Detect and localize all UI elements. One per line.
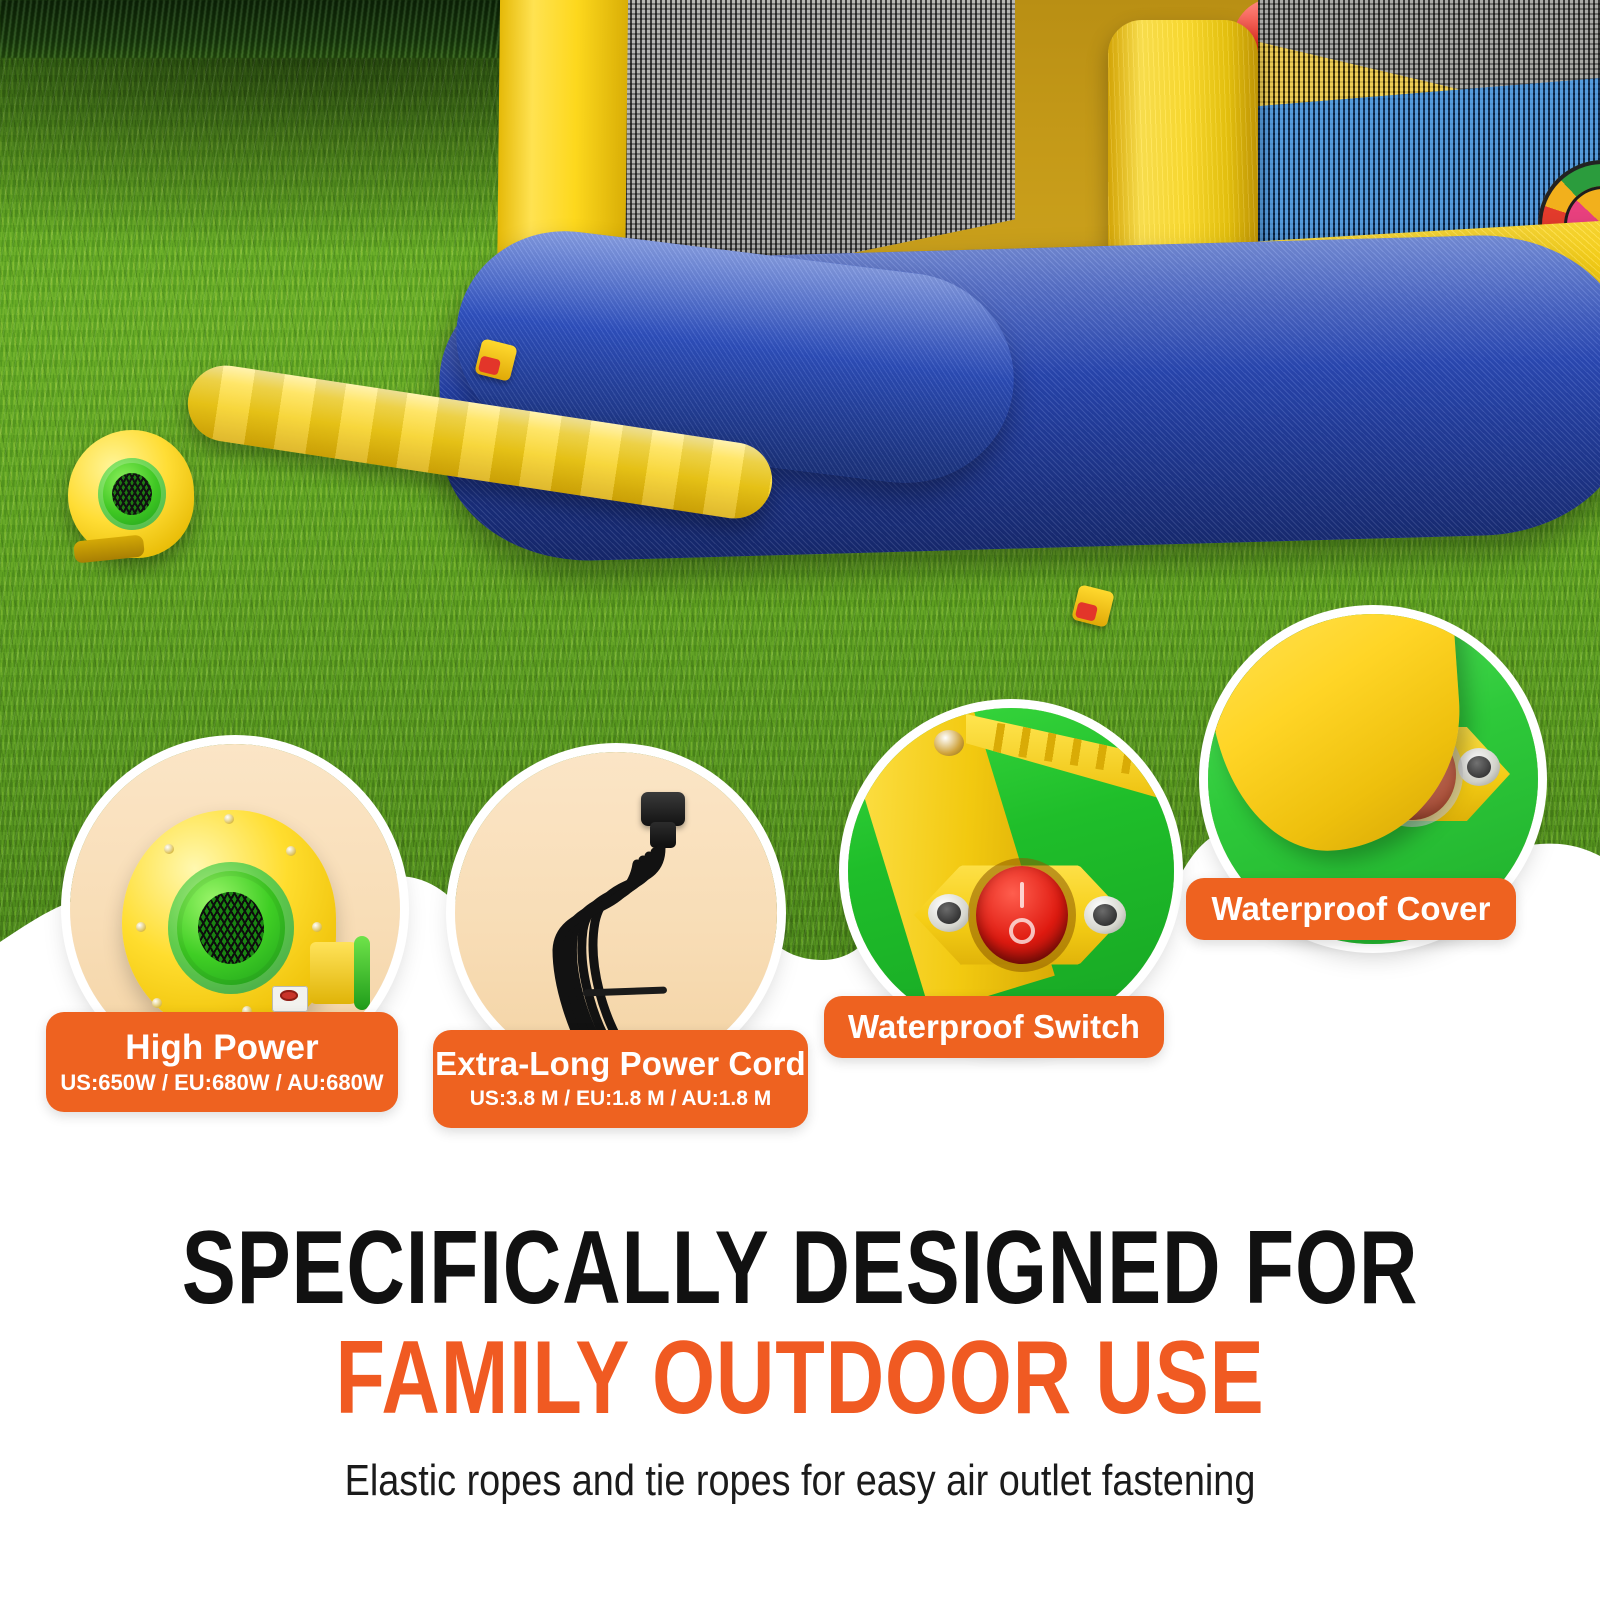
badge-title: High Power: [125, 1029, 319, 1066]
feature-circle-waterproof-switch: [848, 708, 1174, 1034]
screw-icon: [1084, 896, 1126, 934]
badge-waterproof-cover: Waterproof Cover: [1186, 878, 1516, 940]
headline-line-1: SPECIFICALLY DESIGNED FOR: [176, 1216, 1424, 1320]
switch-on-marking-icon: [1020, 882, 1024, 908]
power-cord-illustration: [455, 752, 777, 1074]
screw-icon: [152, 998, 162, 1008]
badge-waterproof-switch: Waterproof Switch: [824, 996, 1164, 1058]
bolt-icon: [934, 730, 964, 756]
rocker-switch-button[interactable]: [976, 866, 1068, 964]
screw-icon: [928, 894, 970, 932]
air-blower-on-grass: [68, 430, 194, 558]
badge-subtitle: US:650W / EU:680W / AU:680W: [60, 1071, 383, 1096]
blower-outlet-ring: [354, 936, 370, 1010]
cord-coil: [455, 752, 777, 1074]
switch-off-marking-icon: [1009, 918, 1035, 944]
badge-subtitle: US:3.8 M / EU:1.8 M / AU:1.8 M: [470, 1087, 771, 1111]
warning-label-icon: [272, 986, 308, 1012]
blower-intake-ring: [168, 862, 294, 994]
headline-subtitle: Elastic ropes and tie ropes for easy air…: [112, 1456, 1488, 1506]
marketing-image: High Power US:650W / EU:680W / AU:680W E…: [0, 0, 1600, 1600]
headline-block: SPECIFICALLY DESIGNED FOR FAMILY OUTDOOR…: [0, 1216, 1600, 1506]
waterproof-switch-illustration: [848, 708, 1174, 1034]
headline-line-2: FAMILY OUTDOOR USE: [176, 1326, 1424, 1430]
blower-mesh-icon: [198, 892, 264, 964]
badge-title: Waterproof Switch: [848, 1010, 1140, 1045]
screw-icon: [1458, 748, 1500, 786]
badge-title: Waterproof Cover: [1211, 892, 1490, 927]
badge-high-power: High Power US:650W / EU:680W / AU:680W: [46, 1012, 398, 1112]
screw-icon: [164, 844, 174, 854]
feature-circle-power-cord: [455, 752, 777, 1074]
badge-title: Extra-Long Power Cord: [435, 1047, 806, 1082]
screw-icon: [136, 922, 146, 932]
screw-icon: [286, 846, 296, 856]
badge-extra-long-power-cord: Extra-Long Power Cord US:3.8 M / EU:1.8 …: [433, 1030, 808, 1128]
screw-icon: [312, 922, 322, 932]
blower-intake-icon: [98, 458, 166, 530]
screw-icon: [224, 814, 234, 824]
